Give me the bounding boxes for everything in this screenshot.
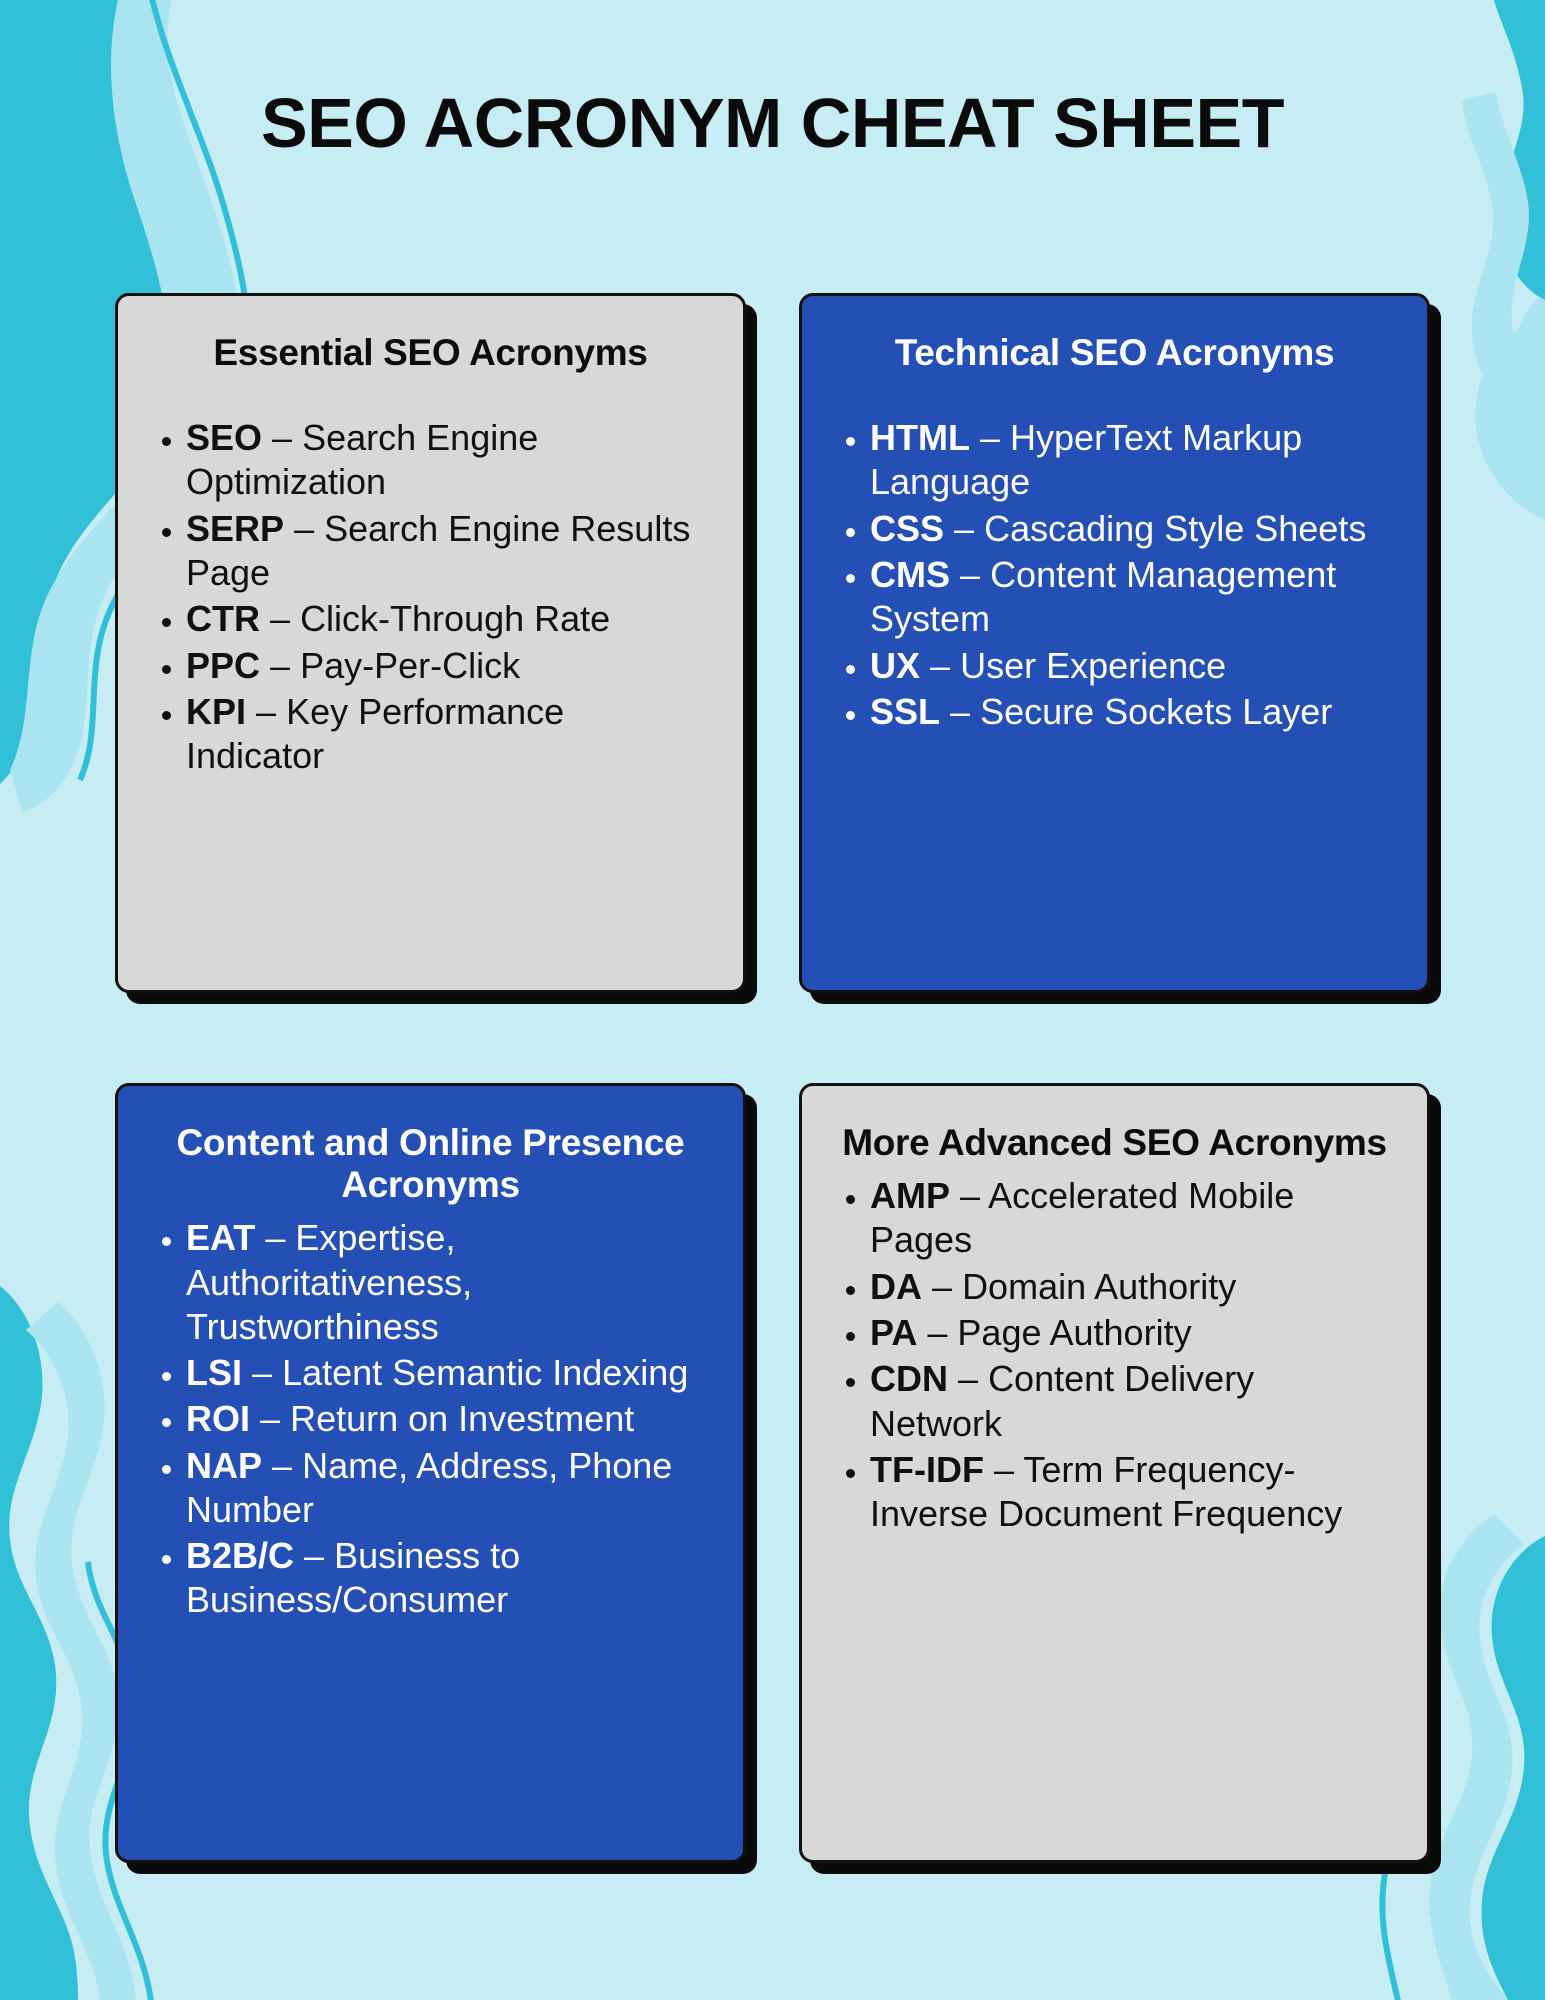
list-item: DA – Domain Authority xyxy=(870,1265,1393,1309)
acronym-term: PPC xyxy=(186,645,260,686)
list-item: UX – User Experience xyxy=(870,644,1393,688)
list-item: SERP – Search Engine Results Page xyxy=(186,507,709,596)
acronym-term: ROI xyxy=(186,1398,250,1439)
acronym-expansion: Secure Sockets Layer xyxy=(980,691,1332,732)
dash: – xyxy=(930,645,950,686)
dash: – xyxy=(980,417,1000,458)
acronym-term: AMP xyxy=(870,1175,950,1216)
list-item: LSI – Latent Semantic Indexing xyxy=(186,1351,709,1395)
list-item: CMS – Content Management System xyxy=(870,553,1393,642)
list-item: NAP – Name, Address, Phone Number xyxy=(186,1444,709,1533)
dash: – xyxy=(958,1358,978,1399)
acronym-expansion: Pay-Per-Click xyxy=(300,645,520,686)
list-item: PPC – Pay-Per-Click xyxy=(186,644,709,688)
dash: – xyxy=(270,645,290,686)
list-item: CSS – Cascading Style Sheets xyxy=(870,507,1393,551)
dash: – xyxy=(270,598,290,639)
acronym-term: LSI xyxy=(186,1352,242,1393)
acronym-list: EAT – Expertise, Authoritativeness, Trus… xyxy=(152,1216,709,1622)
dash: – xyxy=(994,1449,1014,1490)
list-item: KPI – Key Performance Indicator xyxy=(186,690,709,779)
card-content-online-presence-acronyms: Content and Online Presence Acronyms EAT… xyxy=(115,1083,746,1863)
acronym-expansion: Latent Semantic Indexing xyxy=(282,1352,688,1393)
acronym-term: UX xyxy=(870,645,920,686)
acronym-term: CTR xyxy=(186,598,260,639)
acronym-expansion: Cascading Style Sheets xyxy=(984,508,1366,549)
acronym-expansion: Domain Authority xyxy=(962,1266,1236,1307)
acronym-list: SEO – Search Engine Optimization SERP – … xyxy=(152,416,709,778)
card-more-advanced-seo-acronyms: More Advanced SEO Acronyms AMP – Acceler… xyxy=(799,1083,1430,1863)
infographic-page: SEO ACRONYM CHEAT SHEET Essential SEO Ac… xyxy=(0,0,1545,2000)
card-technical-seo-acronyms: Technical SEO Acronyms HTML – HyperText … xyxy=(799,293,1430,993)
list-item: ROI – Return on Investment xyxy=(186,1397,709,1441)
card-heading: Technical SEO Acronyms xyxy=(836,332,1393,374)
acronym-term: KPI xyxy=(186,691,246,732)
list-item: TF-IDF – Term Frequency-Inverse Document… xyxy=(870,1448,1393,1537)
dash: – xyxy=(954,508,974,549)
acronym-term: HTML xyxy=(870,417,970,458)
dash: – xyxy=(252,1352,272,1393)
acronym-term: TF-IDF xyxy=(870,1449,984,1490)
dash: – xyxy=(260,1398,280,1439)
dash: – xyxy=(265,1217,285,1258)
acronym-list: AMP – Accelerated Mobile Pages DA – Doma… xyxy=(836,1174,1393,1536)
acronym-term: B2B/C xyxy=(186,1535,294,1576)
acronym-expansion: Return on Investment xyxy=(290,1398,634,1439)
dash: – xyxy=(272,1445,292,1486)
acronym-term: EAT xyxy=(186,1217,255,1258)
acronym-term: CSS xyxy=(870,508,944,549)
list-item: CDN – Content Delivery Network xyxy=(870,1357,1393,1446)
dash: – xyxy=(304,1535,324,1576)
acronym-expansion: User Experience xyxy=(960,645,1226,686)
dash: – xyxy=(932,1266,952,1307)
dash: – xyxy=(256,691,276,732)
list-item: SEO – Search Engine Optimization xyxy=(186,416,709,505)
acronym-term: CMS xyxy=(870,554,950,595)
card-essential-seo-acronyms: Essential SEO Acronyms SEO – Search Engi… xyxy=(115,293,746,993)
dash: – xyxy=(927,1312,947,1353)
acronym-term: PA xyxy=(870,1312,917,1353)
list-item: HTML – HyperText Markup Language xyxy=(870,416,1393,505)
list-item: B2B/C – Business to Business/Consumer xyxy=(186,1534,709,1623)
acronym-term: SERP xyxy=(186,508,284,549)
card-heading: More Advanced SEO Acronyms xyxy=(836,1122,1393,1164)
acronym-term: SEO xyxy=(186,417,262,458)
list-item: EAT – Expertise, Authoritativeness, Trus… xyxy=(186,1216,709,1349)
card-heading: Essential SEO Acronyms xyxy=(152,332,709,374)
dash: – xyxy=(960,554,980,595)
dash: – xyxy=(272,417,292,458)
acronym-term: NAP xyxy=(186,1445,262,1486)
acronym-term: CDN xyxy=(870,1358,948,1399)
list-item: CTR – Click-Through Rate xyxy=(186,597,709,641)
acronym-card-grid: Essential SEO Acronyms SEO – Search Engi… xyxy=(115,293,1430,1863)
dash: – xyxy=(294,508,314,549)
page-title: SEO ACRONYM CHEAT SHEET xyxy=(0,88,1545,159)
list-item: PA – Page Authority xyxy=(870,1311,1393,1355)
dash: – xyxy=(950,691,970,732)
list-item: AMP – Accelerated Mobile Pages xyxy=(870,1174,1393,1263)
dash: – xyxy=(960,1175,980,1216)
list-item: SSL – Secure Sockets Layer xyxy=(870,690,1393,734)
acronym-term: SSL xyxy=(870,691,940,732)
acronym-expansion: Page Authority xyxy=(957,1312,1191,1353)
acronym-term: DA xyxy=(870,1266,922,1307)
acronym-expansion: Click-Through Rate xyxy=(300,598,610,639)
acronym-list: HTML – HyperText Markup Language CSS – C… xyxy=(836,416,1393,734)
card-heading: Content and Online Presence Acronyms xyxy=(152,1122,709,1206)
